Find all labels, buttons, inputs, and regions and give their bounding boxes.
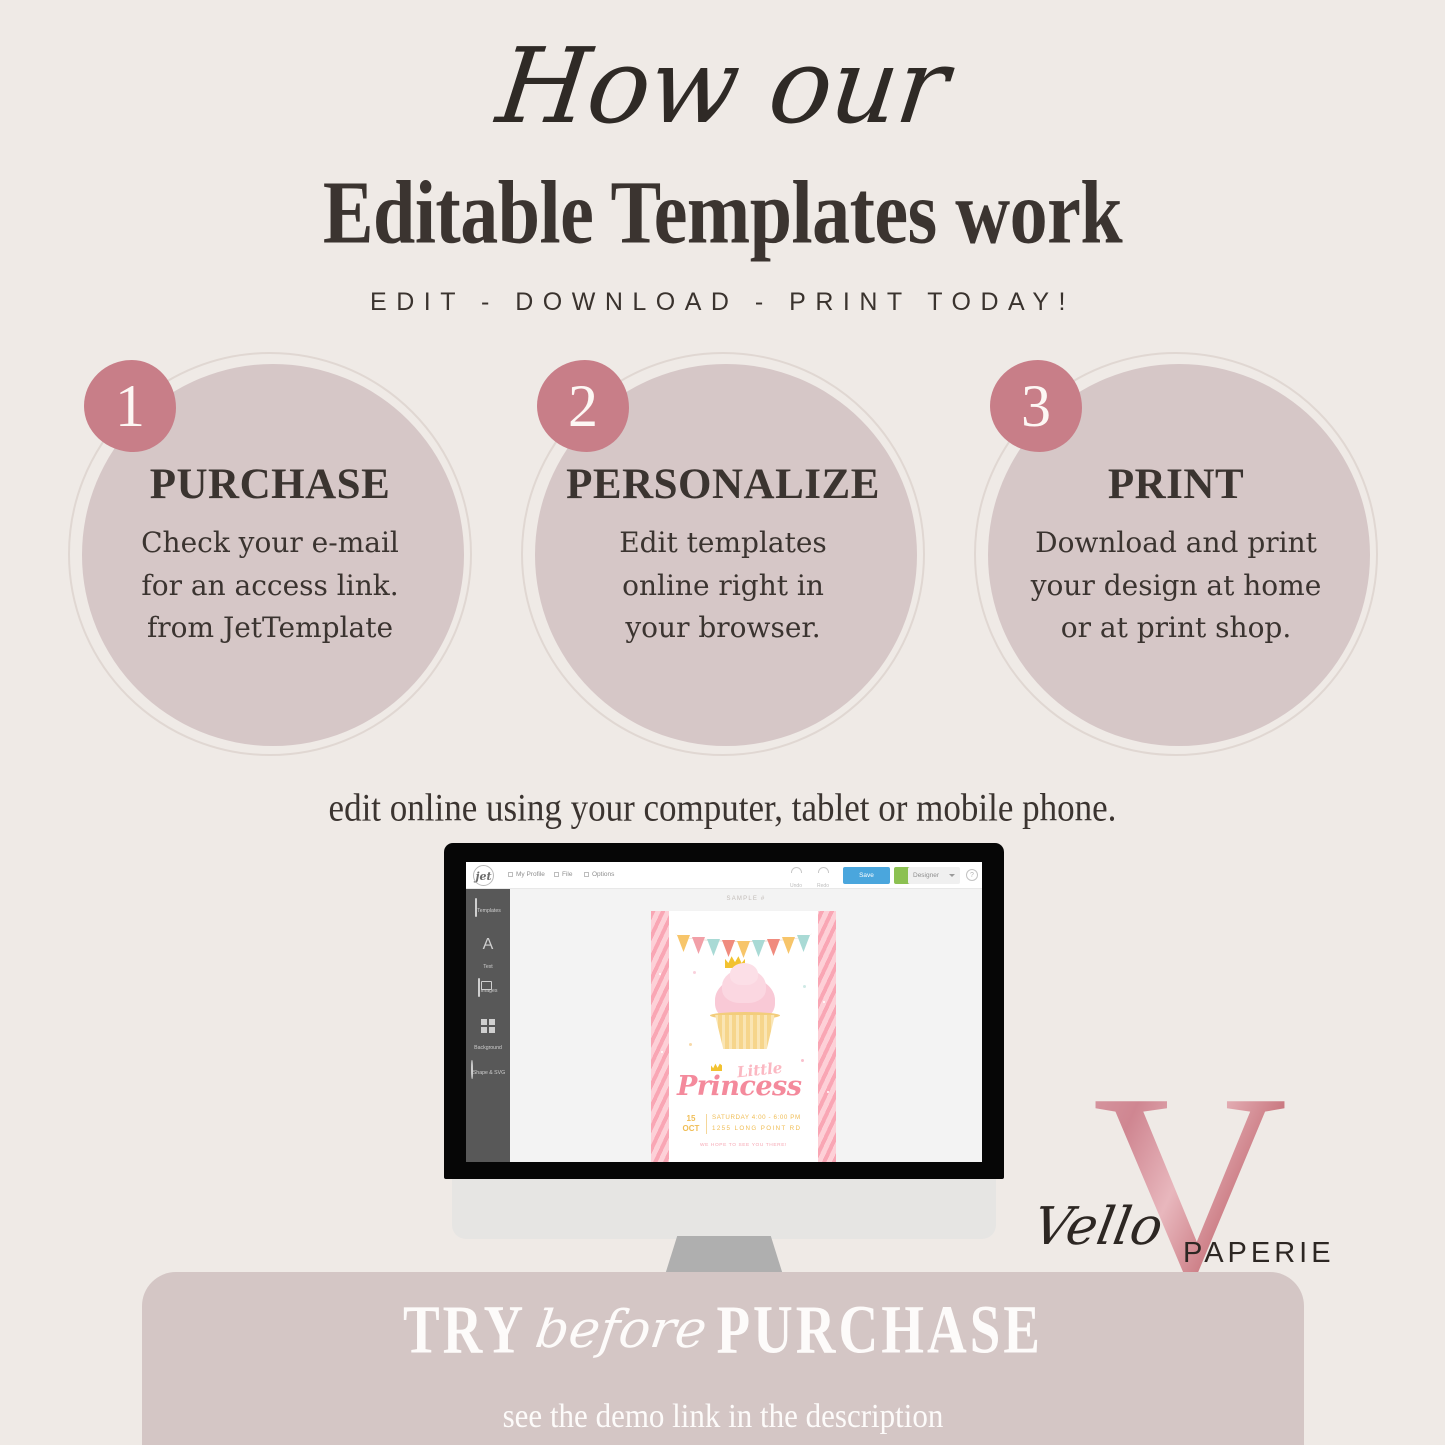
templates-icon: [475, 898, 477, 917]
cupcake-illustration: [699, 965, 791, 1051]
desktop-monitor-mockup: jet My Profile File Options Undo Redo: [444, 843, 1004, 1248]
header-main-title: Editable Templates work: [0, 168, 1445, 258]
sidebar-item-templates[interactable]: Templates: [466, 899, 510, 917]
step-body-line: online right in: [549, 565, 897, 608]
divider: [706, 1114, 707, 1134]
bottom-banner: TRYbeforePURCHASE see the demo link in t…: [142, 1272, 1304, 1445]
menu-item-options[interactable]: Options: [584, 871, 614, 878]
step-number-badge: 1: [84, 360, 176, 452]
undo-arrow-icon: [791, 867, 802, 873]
help-icon[interactable]: ?: [966, 869, 978, 881]
step-body: Download and print your design at home o…: [1002, 522, 1350, 650]
step-card-purchase: 1 PURCHASE Check your e-mail for an acce…: [68, 352, 472, 756]
gear-icon: [584, 872, 589, 877]
sidebar-item-text[interactable]: A Text: [466, 937, 510, 973]
card-date-month: OCT: [683, 1124, 700, 1133]
card-date: 15 OCT: [679, 1114, 703, 1133]
text-A-icon: A: [466, 937, 510, 953]
card-event-address: 1255 LONG POINT RD: [712, 1125, 801, 1132]
poster-canvas: How our Editable Templates work EDIT - D…: [0, 0, 1445, 1445]
sidebar-label: Templates: [477, 908, 501, 914]
banner-word-purchase: PURCHASE: [716, 1290, 1043, 1369]
bunting-decoration: [675, 931, 812, 959]
step-body-line: Download and print: [1002, 522, 1350, 565]
card-footer-text: WE HOPE TO SEE YOU THERE!: [651, 1143, 836, 1148]
designer-dropdown[interactable]: Designer: [908, 867, 960, 884]
step-body-line: from JetTemplate: [96, 607, 444, 650]
step-card-print: 3 PRINT Download and print your design a…: [974, 352, 1378, 756]
step-body: Check your e-mail for an access link. fr…: [96, 522, 444, 650]
sidebar-label: Background: [474, 1045, 502, 1051]
sidebar-item-background[interactable]: Background: [466, 1019, 510, 1054]
step-number-badge: 3: [990, 360, 1082, 452]
designer-label: Designer: [913, 872, 939, 879]
step-body-line: or at print shop.: [1002, 607, 1350, 650]
step-body-line: your design at home: [1002, 565, 1350, 608]
banner-word-try: TRY: [403, 1290, 526, 1369]
step-title: PERSONALIZE: [521, 460, 925, 509]
banner-word-before: before: [522, 1300, 721, 1360]
menu-label: My Profile: [516, 871, 545, 878]
step-body: Edit templates online right in your brow…: [549, 522, 897, 650]
editor-toolbar: jet My Profile File Options Undo Redo: [466, 862, 982, 889]
steps-row: 1 PURCHASE Check your e-mail for an acce…: [0, 352, 1445, 762]
editor-sidebar: Templates A Text Images Background Shape…: [466, 889, 510, 1162]
canvas-sample-label: SAMPLE #: [510, 896, 982, 902]
sidebar-label: Shape & SVG: [473, 1070, 505, 1076]
step-body-line: for an access link.: [96, 565, 444, 608]
device-support-caption: edit online using your computer, tablet …: [0, 786, 1445, 831]
chevron-down-icon: [949, 874, 955, 877]
file-icon: [554, 872, 559, 877]
frosting-top: [730, 963, 758, 985]
brand-logo: V Vello PAPERIE: [1005, 1085, 1375, 1295]
header-script-line: How our: [0, 34, 1445, 138]
background-grid-icon: [481, 1019, 495, 1033]
header-subtitle: EDIT - DOWNLOAD - PRINT TODAY!: [0, 288, 1445, 317]
banner-subtitle: see the demo link in the description: [142, 1396, 1304, 1436]
sidebar-label: Text: [483, 964, 493, 970]
cupcake-liner: [711, 1015, 779, 1049]
menu-label: Options: [592, 871, 614, 878]
menu-label: File: [562, 871, 572, 878]
step-title: PRINT: [974, 460, 1378, 509]
card-date-day: 15: [687, 1114, 696, 1123]
step-title: PURCHASE: [68, 460, 472, 509]
card-event-time: SATURDAY 4:00 - 6:00 PM: [712, 1114, 801, 1121]
save-button[interactable]: Save: [843, 867, 890, 884]
redo-arrow-icon: [818, 867, 829, 873]
step-card-personalize: 2 PERSONALIZE Edit templates online righ…: [521, 352, 925, 756]
brand-wordmark: PAPERIE: [1183, 1237, 1335, 1270]
menu-item-file[interactable]: File: [554, 871, 572, 878]
editor-canvas[interactable]: SAMPLE #: [510, 889, 982, 1162]
step-body-line: Check your e-mail: [96, 522, 444, 565]
monitor-chin: [452, 1179, 996, 1239]
invitation-card[interactable]: Little Princess 15 OCT SATURDAY 4:00 - 6…: [651, 911, 836, 1162]
step-body-line: Edit templates: [549, 522, 897, 565]
jet-logo-icon[interactable]: jet: [473, 865, 494, 886]
step-body-line: your browser.: [549, 607, 897, 650]
menu-item-my-profile[interactable]: My Profile: [508, 871, 545, 878]
banner-headline: TRYbeforePURCHASE: [142, 1298, 1304, 1361]
sidebar-item-images[interactable]: Images: [466, 979, 510, 997]
editor-screen: jet My Profile File Options Undo Redo: [466, 862, 982, 1162]
user-icon: [508, 872, 513, 877]
sidebar-item-shape-svg[interactable]: Shape & SVG: [466, 1061, 510, 1079]
card-princess-text: Princess: [677, 1071, 801, 1102]
step-number-badge: 2: [537, 360, 629, 452]
